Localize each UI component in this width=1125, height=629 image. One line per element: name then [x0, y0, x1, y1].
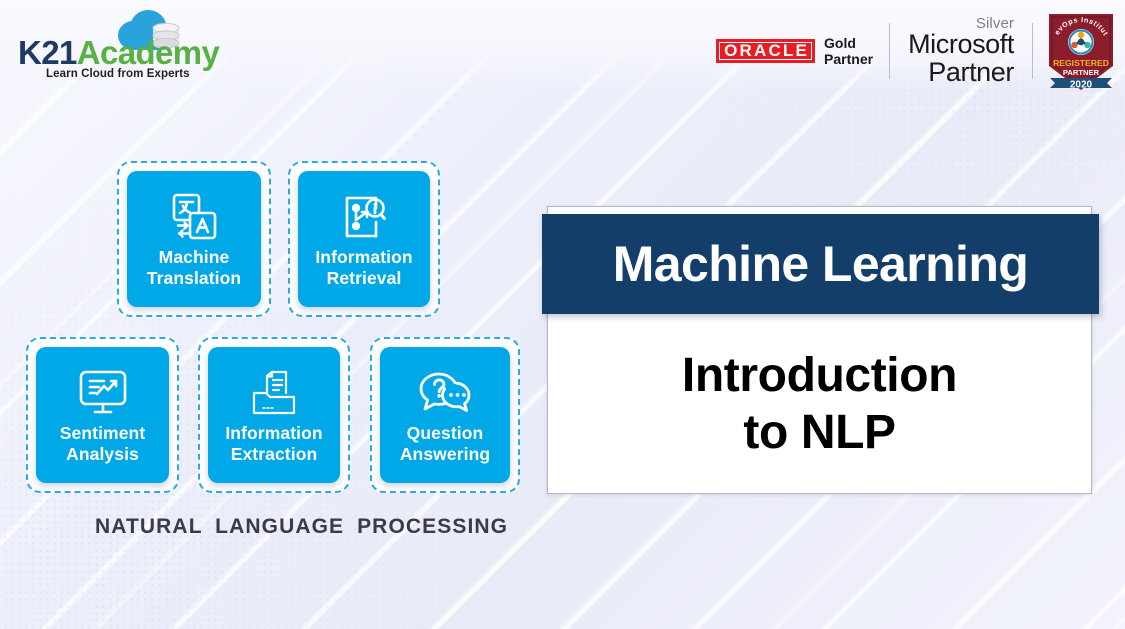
partner-badges: ORACLE Gold Partner Silver Microsoft Par… [716, 8, 1117, 94]
title-subtitle-line1: Introduction [682, 348, 957, 405]
nlp-tile-label: Machine Translation [147, 247, 241, 289]
nlp-tile-label-line2: Extraction [231, 444, 318, 464]
nlp-tile-label: Sentiment Analysis [60, 423, 146, 465]
oracle-tier: Gold [824, 35, 873, 51]
nlp-tile-label-line1: Machine [159, 247, 230, 267]
nlp-tile-body: Machine Translation [127, 171, 261, 307]
nlp-tile-label: Information Extraction [225, 423, 322, 465]
brand-wordmark: K21Academy [18, 34, 219, 72]
nlp-tile-information-retrieval[interactable]: Information Retrieval [288, 161, 440, 317]
nlp-tile-label-line2: Retrieval [327, 268, 402, 288]
nlp-tile-question-answering[interactable]: Question Answering [370, 337, 520, 493]
svg-text:PARTNER: PARTNER [1063, 68, 1100, 77]
nlp-tile-information-extraction[interactable]: Information Extraction [198, 337, 350, 493]
oracle-logo-text: ORACLE [724, 41, 809, 60]
nlp-tile-label-line1: Information [315, 247, 412, 267]
nlp-tile-label: Question Answering [400, 423, 490, 465]
devops-institute-badge: DevOps Institute REGISTERED PARTNER 2020 [1045, 8, 1117, 94]
brand-tagline: Learn Cloud from Experts [46, 68, 190, 80]
title-subtitle-line2: to NLP [743, 405, 895, 462]
nlp-tile-label-line2: Analysis [66, 444, 139, 464]
brand-name-k21: K21 [18, 34, 77, 71]
slide-canvas: K21Academy Learn Cloud from Experts ORAC… [0, 0, 1125, 629]
nlp-tile-label-line1: Information [225, 423, 322, 443]
brand-logo[interactable]: K21Academy Learn Cloud from Experts [14, 8, 190, 82]
oracle-partner-text: Gold Partner [824, 35, 873, 67]
microsoft-name: Microsoft [908, 31, 1014, 59]
oracle-role: Partner [824, 51, 873, 67]
brand-name-academy: Academy [77, 34, 220, 71]
nlp-tile-label-line2: Translation [147, 268, 241, 288]
title-card-header-bar: Machine Learning [542, 214, 1099, 314]
nlp-tile-body: Sentiment Analysis [36, 347, 169, 483]
partner-divider-2 [1032, 23, 1033, 79]
translate-icon [168, 190, 220, 244]
title-card-subtitle: Introduction to NLP [547, 320, 1092, 490]
nlp-caption: NATURAL LANGUAGE PROCESSING [95, 515, 508, 539]
oracle-logo: ORACLE [716, 39, 815, 63]
folder-document-icon [250, 366, 298, 420]
svg-text:REGISTERED: REGISTERED [1053, 58, 1109, 68]
nlp-tile-body: Information Extraction [208, 347, 340, 483]
nlp-tile-label: Information Retrieval [315, 247, 412, 289]
title-card-header-text: Machine Learning [613, 239, 1028, 289]
oracle-partner-badge: ORACLE Gold Partner [716, 35, 889, 67]
nlp-tile-body: Question Answering [380, 347, 510, 483]
nlp-tile-label-line1: Question [407, 423, 484, 443]
chat-bubbles-question-icon [417, 366, 473, 420]
monitor-trend-icon [77, 366, 129, 420]
nlp-tile-label-line2: Answering [400, 444, 490, 464]
nlp-tile-label-line1: Sentiment [60, 423, 146, 443]
microsoft-role: Partner [908, 59, 1014, 87]
nlp-tile-body: Information Retrieval [298, 171, 430, 307]
svg-text:2020: 2020 [1070, 80, 1093, 91]
document-search-flow-icon [339, 190, 389, 244]
nlp-tile-machine-translation[interactable]: Machine Translation [117, 161, 271, 317]
nlp-tile-sentiment-analysis[interactable]: Sentiment Analysis [26, 337, 179, 493]
microsoft-partner-badge: Silver Microsoft Partner [890, 16, 1032, 87]
